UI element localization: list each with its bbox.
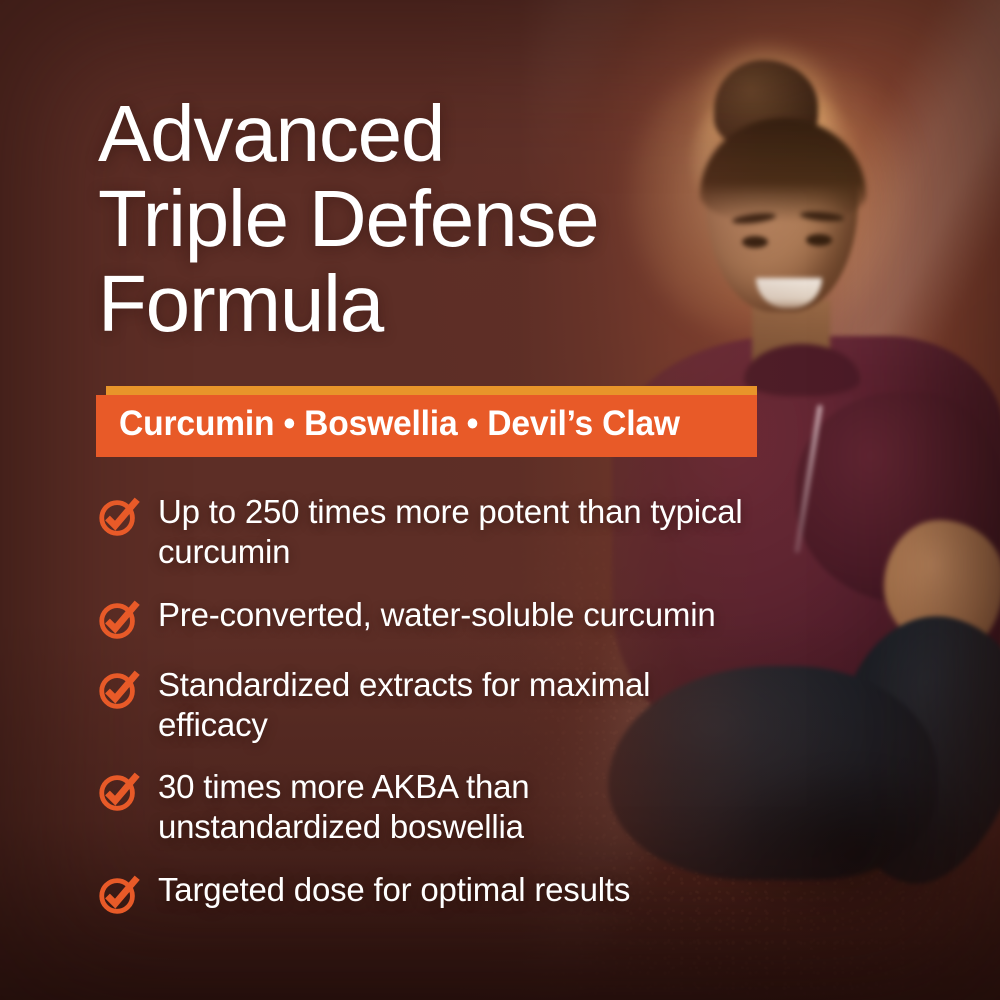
check-circle-icon [96,494,142,540]
ingredient-list: Curcumin • Boswellia • Devil’s Claw [96,404,731,444]
list-item: Up to 250 times more potent than typical… [96,492,786,573]
banner-accent-stripe [106,386,757,395]
promo-banner: Advanced Triple Defense Formula Curcumin… [0,0,1000,1000]
benefit-text: Targeted dose for optimal results [158,870,630,910]
check-circle-icon [96,769,142,815]
ingredient-banner: Curcumin • Boswellia • Devil’s Claw [96,386,757,457]
list-item: Standardized extracts for maximal effica… [96,665,786,746]
check-circle-icon [96,667,142,713]
list-item: Targeted dose for optimal results [96,870,786,918]
benefit-text: Pre-converted, water-soluble curcumin [158,595,716,635]
check-circle-icon [96,872,142,918]
list-item: 30 times more AKBA than unstandardized b… [96,767,786,848]
headline-line-3: Formula [98,262,718,347]
benefit-list: Up to 250 times more potent than typical… [96,492,786,918]
benefit-text: Standardized extracts for maximal effica… [158,665,758,746]
check-circle-icon [96,597,142,643]
promo-content: Advanced Triple Defense Formula Curcumin… [0,0,1000,1000]
benefit-text: 30 times more AKBA than unstandardized b… [158,767,758,848]
headline-line-2: Triple Defense [98,177,718,262]
list-item: Pre-converted, water-soluble curcumin [96,595,786,643]
banner-body: Curcumin • Boswellia • Devil’s Claw [96,395,757,457]
headline-line-1: Advanced [98,92,718,177]
benefit-text: Up to 250 times more potent than typical… [158,492,758,573]
page-title: Advanced Triple Defense Formula [98,92,718,346]
